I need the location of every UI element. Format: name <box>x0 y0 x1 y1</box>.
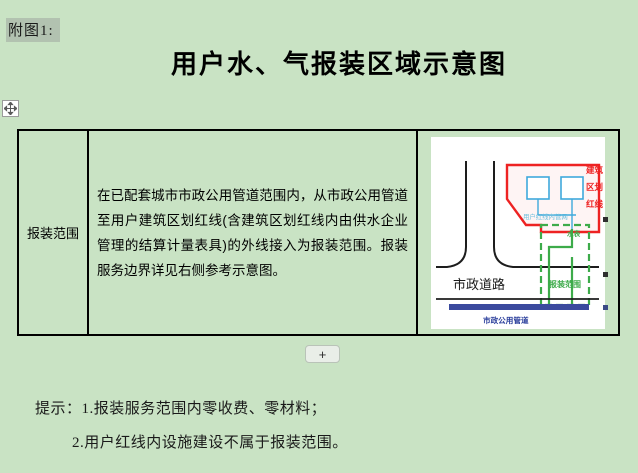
note-line-1: 提示：1.报装服务范围内零收费、零材料； <box>0 392 638 426</box>
red-line-label-3: 红线 <box>586 199 604 209</box>
municipal-pipe-label: 市政公用管道 <box>483 315 529 325</box>
table-cell-description[interactable]: 在已配套城市市政公用管道范围内，从市政公用管道至用户建筑区划红线(含建筑区划红线… <box>89 131 418 334</box>
selection-handle-right-mid[interactable] <box>603 272 608 277</box>
add-row-button[interactable]: + <box>305 345 340 363</box>
inner-network-label: 用户红线内管网 <box>523 212 568 221</box>
document-page: 附图1: 用户水、气报装区域示意图 报装范围 在已配套城市市政公用管道范围内，从 <box>0 0 638 473</box>
description-text: 在已配套城市市政公用管道范围内，从市政公用管道至用户建筑区划红线(含建筑区划红线… <box>97 183 408 283</box>
attachment-label[interactable]: 附图1: <box>6 18 60 42</box>
table-move-handle[interactable] <box>2 100 19 117</box>
move-cross-icon <box>4 102 17 115</box>
selection-handle-right-top[interactable] <box>603 217 608 222</box>
scope-label: 报装范围 <box>549 279 581 289</box>
scope-table: 报装范围 在已配套城市市政公用管道范围内，从市政公用管道至用户建筑区划红线(含建… <box>17 129 620 336</box>
table-cell-row-label[interactable]: 报装范围 <box>19 131 89 334</box>
page-title: 用户水、气报装区域示意图 <box>0 44 638 81</box>
selection-handle-right-bottom[interactable] <box>603 305 608 310</box>
red-line-label-2: 区划 <box>586 182 603 192</box>
diagram-svg: 用户红线内管网 建筑 区划 红线 水表 报装范围 市政道路 <box>431 137 605 329</box>
meter-label: 水表 <box>567 229 581 238</box>
red-line-label-1: 建筑 <box>585 165 604 175</box>
note-line-2: 2.用户红线内设施建设不属于报装范围。 <box>0 426 638 460</box>
notes-block: 提示：1.报装服务范围内零收费、零材料； 2.用户红线内设施建设不属于报装范围。 <box>0 392 638 460</box>
row-label-text: 报装范围 <box>27 223 79 242</box>
road-label: 市政道路 <box>453 277 505 292</box>
scope-diagram[interactable]: 用户红线内管网 建筑 区划 红线 水表 报装范围 市政道路 <box>431 137 605 329</box>
table-cell-diagram[interactable]: 用户红线内管网 建筑 区划 红线 水表 报装范围 市政道路 <box>418 131 618 334</box>
